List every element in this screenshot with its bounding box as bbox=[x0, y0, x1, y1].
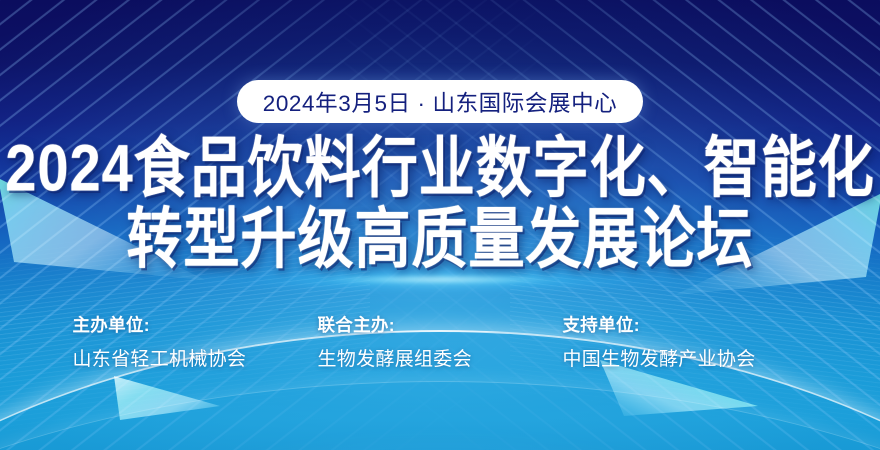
headline-line-2: 转型升级高质量发展论坛 bbox=[5, 205, 875, 272]
organizer-co-host-value: 生物发酵展组委会 bbox=[318, 344, 563, 371]
organizer-host: 主办单位: 山东省轻工机械协会 bbox=[73, 312, 318, 371]
organizer-supporter-label: 支持单位: bbox=[563, 312, 808, 337]
organizer-host-value: 山东省轻工机械协会 bbox=[73, 344, 318, 371]
headline-line-1: 2024食品饮料行业数字化、智能化 bbox=[5, 134, 875, 201]
event-date-venue-pill: 2024年3月5日 · 山东国际会展中心 bbox=[237, 80, 644, 123]
event-headline: 2024食品饮料行业数字化、智能化 转型升级高质量发展论坛 bbox=[5, 134, 875, 272]
organizer-co-host-label: 联合主办: bbox=[318, 312, 563, 337]
organizer-supporter-value: 中国生物发酵产业协会 bbox=[563, 344, 808, 371]
event-banner: 2024年3月5日 · 山东国际会展中心 2024食品饮料行业数字化、智能化 转… bbox=[0, 0, 880, 450]
organizer-host-label: 主办单位: bbox=[73, 312, 318, 337]
organizer-supporter: 支持单位: 中国生物发酵产业协会 bbox=[563, 312, 808, 371]
organizer-co-host: 联合主办: 生物发酵展组委会 bbox=[318, 312, 563, 371]
organizer-row: 主办单位: 山东省轻工机械协会 联合主办: 生物发酵展组委会 支持单位: 中国生… bbox=[0, 312, 880, 371]
banner-content: 2024年3月5日 · 山东国际会展中心 2024食品饮料行业数字化、智能化 转… bbox=[0, 0, 880, 450]
